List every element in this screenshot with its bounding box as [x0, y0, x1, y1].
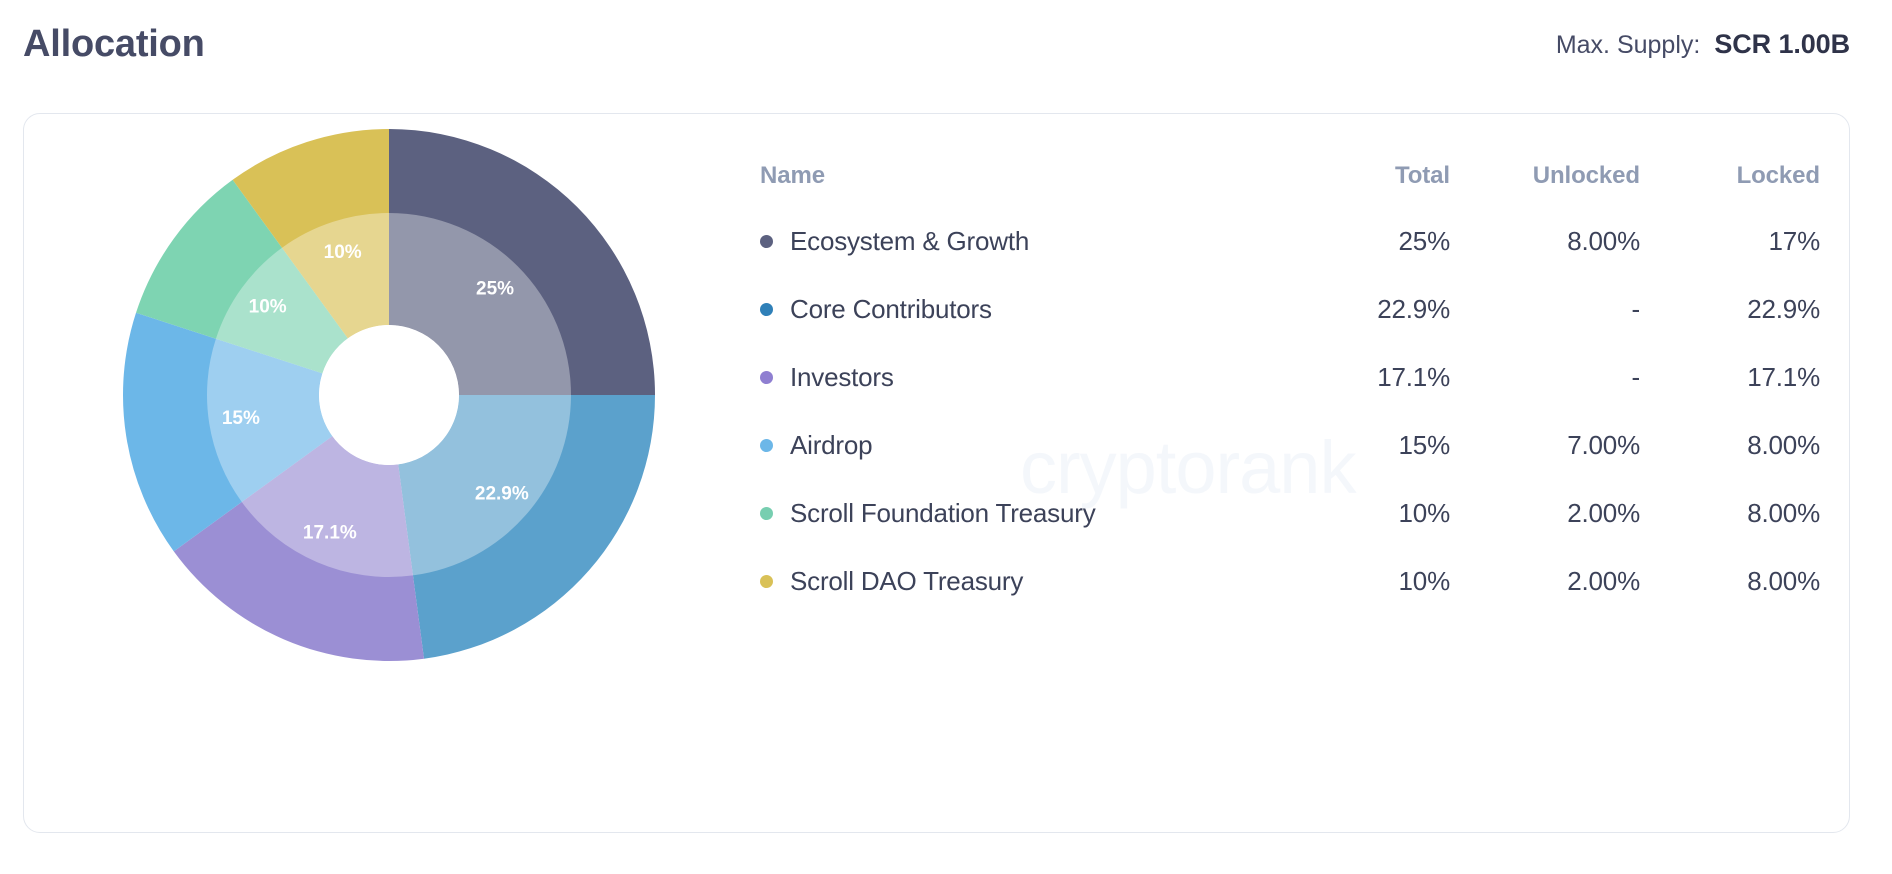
row-total-value: 10%: [1280, 498, 1450, 529]
max-supply-value: SCR 1.00B: [1714, 29, 1850, 60]
row-name-cell: Ecosystem & Growth: [760, 226, 1280, 257]
table-row[interactable]: Scroll DAO Treasury10%2.00%8.00%: [760, 547, 1820, 615]
max-supply: Max. Supply: SCR 1.00B: [1556, 29, 1850, 60]
table-header: Name Total Unlocked Locked: [760, 145, 1820, 207]
row-name-cell: Core Contributors: [760, 294, 1280, 325]
table-header-row: Name Total Unlocked Locked: [760, 145, 1820, 207]
row-total-value: 25%: [1280, 226, 1450, 257]
legend-dot-icon: [760, 439, 773, 452]
allocation-donut-chart: 25%22.9%17.1%15%10%10%: [107, 113, 671, 677]
donut-slice-label: 15%: [222, 408, 260, 429]
row-unlocked-value: 8.00%: [1450, 226, 1640, 257]
row-locked-value: 8.00%: [1640, 430, 1820, 461]
row-locked-value: 17.1%: [1640, 362, 1820, 393]
row-locked-value: 8.00%: [1640, 498, 1820, 529]
row-name-label: Investors: [790, 362, 894, 393]
max-supply-label: Max. Supply:: [1556, 31, 1701, 60]
column-header-locked[interactable]: Locked: [1640, 162, 1820, 190]
row-name-cell: Scroll DAO Treasury: [760, 566, 1280, 597]
donut-slice-label: 10%: [324, 242, 362, 263]
row-unlocked-value: -: [1450, 294, 1640, 325]
row-unlocked-value: -: [1450, 362, 1640, 393]
table-row[interactable]: Core Contributors22.9%-22.9%: [760, 275, 1820, 343]
page-header: Allocation Max. Supply: SCR 1.00B: [23, 14, 1850, 74]
table-row[interactable]: Ecosystem & Growth25%8.00%17%: [760, 207, 1820, 275]
donut-svg: 25%22.9%17.1%15%10%10%: [107, 113, 671, 677]
donut-slice-label: 10%: [249, 296, 287, 317]
allocation-page: Allocation Max. Supply: SCR 1.00B crypto…: [0, 0, 1892, 874]
row-name-cell: Airdrop: [760, 430, 1280, 461]
row-name-label: Airdrop: [790, 430, 872, 461]
legend-dot-icon: [760, 371, 773, 384]
legend-dot-icon: [760, 303, 773, 316]
column-header-name[interactable]: Name: [760, 162, 1280, 190]
row-name-label: Ecosystem & Growth: [790, 226, 1029, 257]
row-total-value: 17.1%: [1280, 362, 1450, 393]
row-total-value: 22.9%: [1280, 294, 1450, 325]
row-locked-value: 17%: [1640, 226, 1820, 257]
row-total-value: 10%: [1280, 566, 1450, 597]
legend-dot-icon: [760, 235, 773, 248]
row-unlocked-value: 2.00%: [1450, 566, 1640, 597]
donut-slice-label: 17.1%: [303, 522, 357, 543]
table-row[interactable]: Airdrop15%7.00%8.00%: [760, 411, 1820, 479]
row-unlocked-value: 2.00%: [1450, 498, 1640, 529]
row-unlocked-value: 7.00%: [1450, 430, 1640, 461]
donut-slice-label: 25%: [476, 278, 514, 299]
row-locked-value: 22.9%: [1640, 294, 1820, 325]
column-header-total[interactable]: Total: [1280, 162, 1450, 190]
row-name-label: Scroll Foundation Treasury: [790, 498, 1096, 529]
legend-dot-icon: [760, 507, 773, 520]
column-header-unlocked[interactable]: Unlocked: [1450, 162, 1640, 190]
table-body: Ecosystem & Growth25%8.00%17%Core Contri…: [760, 207, 1820, 615]
allocation-table: Name Total Unlocked Locked Ecosystem & G…: [760, 145, 1820, 615]
row-locked-value: 8.00%: [1640, 566, 1820, 597]
row-name-cell: Scroll Foundation Treasury: [760, 498, 1280, 529]
table-row[interactable]: Scroll Foundation Treasury10%2.00%8.00%: [760, 479, 1820, 547]
row-name-label: Core Contributors: [790, 294, 992, 325]
row-total-value: 15%: [1280, 430, 1450, 461]
legend-dot-icon: [760, 575, 773, 588]
page-title: Allocation: [23, 25, 205, 63]
row-name-cell: Investors: [760, 362, 1280, 393]
donut-hole: [319, 325, 459, 465]
row-name-label: Scroll DAO Treasury: [790, 566, 1023, 597]
donut-slice-label: 22.9%: [475, 483, 529, 504]
table-row[interactable]: Investors17.1%-17.1%: [760, 343, 1820, 411]
